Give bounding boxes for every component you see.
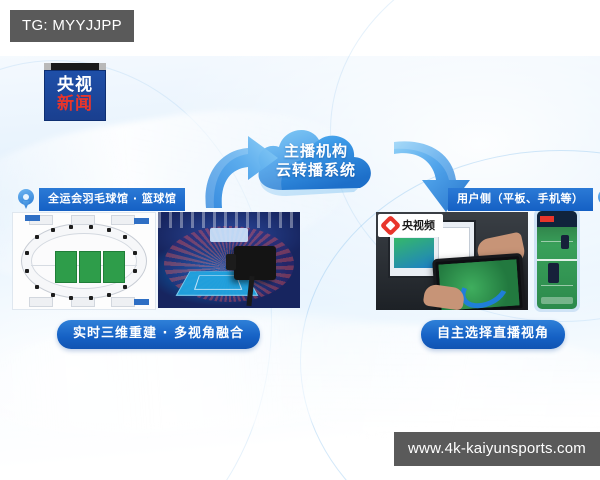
tablet-scene: 央视频 [376, 212, 528, 310]
cctv-video-mark-icon [380, 215, 401, 236]
stadium-seat-map-image [12, 212, 156, 310]
camera-marker [69, 225, 73, 229]
infographic-canvas: TG: MYYJJPP 央视 新闻 [0, 0, 600, 480]
camera-marker [123, 285, 127, 289]
cloud-label-line-2: 云转播系统 [276, 161, 356, 180]
tablet-user-image: 央视频 [376, 212, 528, 310]
court-area [103, 251, 125, 283]
site-watermark-badge: www.4k-kaiyunsports.com [394, 432, 600, 466]
seat-block [111, 215, 135, 225]
seat-block [29, 297, 53, 307]
camera-marker [51, 228, 55, 232]
logo-line-2: 新闻 [48, 95, 102, 114]
camera-marker [89, 296, 93, 300]
logo-line-1: 央视 [48, 76, 102, 95]
phone-status-bar [537, 211, 577, 227]
location-pin-icon [18, 189, 34, 210]
seat-block [71, 215, 95, 225]
court-area [55, 251, 77, 283]
camera-marker [133, 251, 137, 255]
player-figure [561, 235, 569, 249]
cctv-video-logo: 央视频 [378, 214, 443, 237]
cctv-news-logo: 央视 新闻 [44, 63, 106, 121]
venue-label-text: 全运会羽毛球馆 · 篮球馆 [39, 188, 185, 211]
camera-marker [123, 235, 127, 239]
camera-marker [25, 269, 29, 273]
phone-screen [537, 211, 577, 309]
court-net [537, 259, 577, 261]
logo-cap-bar [50, 63, 100, 70]
broadcast-camera [234, 246, 276, 280]
camera-marker [89, 225, 93, 229]
seat-block [111, 297, 135, 307]
court-line [541, 285, 573, 286]
arena-scoreboard [210, 228, 248, 242]
arrow-venue-to-cloud-icon [196, 134, 282, 217]
arena-roof-lights [158, 212, 300, 228]
camera-marker [133, 269, 137, 273]
player-figure [548, 263, 559, 283]
seat-map-drawing [13, 213, 155, 309]
user-label-text: 用户侧（平板、手机等） [448, 188, 593, 211]
phone-user-image [534, 208, 580, 312]
cloud-label-line-1: 主播机构 [284, 142, 348, 161]
pill-choose-live-view: 自主选择直播视角 [421, 320, 565, 349]
pill-realtime-3d-reconstruction: 实时三维重建 · 多视角融合 [57, 320, 260, 349]
camera-marker [25, 251, 29, 255]
map-tag [134, 299, 149, 305]
camera-marker [107, 293, 111, 297]
camera-marker [107, 228, 111, 232]
camera-marker [35, 285, 39, 289]
venue-location-label: 全运会羽毛球馆 · 篮球馆 [18, 188, 185, 211]
tg-watermark-badge: TG: MYYJJPP [10, 10, 134, 42]
arena-scene [158, 212, 300, 308]
camera-marker [51, 293, 55, 297]
map-tag [134, 218, 149, 224]
cctv-video-label: 央视频 [402, 220, 435, 231]
map-tag [25, 215, 40, 221]
user-location-label: 用户侧（平板、手机等） [448, 188, 600, 211]
logo-box: 央视 新闻 [44, 70, 106, 121]
phone-caption-bar [541, 297, 573, 304]
arena-interior-image [158, 212, 300, 308]
camera-marker [69, 296, 73, 300]
court-area [79, 251, 101, 283]
camera-marker [35, 235, 39, 239]
